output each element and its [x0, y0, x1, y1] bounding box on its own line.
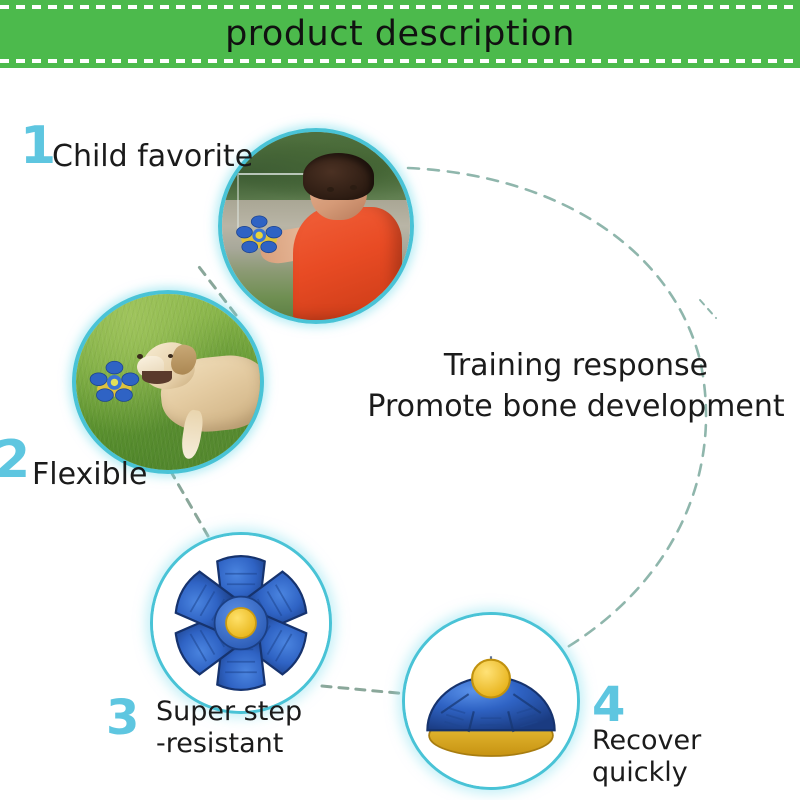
- scene-white-ball: [405, 615, 577, 787]
- child-hair: [303, 153, 374, 200]
- center-benefit-text: Training response Promote bone developme…: [352, 345, 800, 428]
- banner-dashed-line-top: [0, 5, 800, 9]
- child-red-shirt: [293, 207, 402, 324]
- disc-in-hand-icon: [231, 209, 287, 262]
- feature-label-1: Child favorite: [52, 139, 253, 174]
- disc-on-grass-icon: [85, 356, 144, 409]
- feature-number-3: 3: [106, 694, 139, 742]
- arc-accent-stub: [700, 300, 716, 318]
- header-banner: product description: [0, 0, 800, 68]
- connector-3-to-4: [322, 686, 408, 694]
- page-title: product description: [225, 14, 575, 54]
- feature-number-2: 2: [0, 434, 30, 486]
- child-eye-right: [350, 185, 357, 190]
- scene-white-flat: [153, 535, 329, 711]
- photo-flat-disc: [150, 532, 332, 714]
- child-eye-left: [327, 187, 334, 192]
- banner-dashed-line-bottom: [0, 59, 800, 63]
- product-description-infographic: product description: [0, 0, 800, 800]
- photo-dome-ball: [402, 612, 580, 790]
- dog-eye: [168, 354, 173, 358]
- feature-number-1: 1: [20, 120, 56, 172]
- feature-label-4: Recover quickly: [592, 725, 800, 789]
- feature-label-3: Super step -resistant: [156, 696, 302, 760]
- dog-mouth: [142, 371, 171, 383]
- scene-grass: [76, 294, 260, 470]
- flat-disc-icon: [153, 535, 329, 711]
- feature-number-4: 4: [592, 681, 625, 729]
- photo-dog-with-disc: [72, 290, 264, 474]
- dome-ball-icon: [405, 615, 577, 787]
- feature-label-2: Flexible: [32, 457, 147, 492]
- connector-2-to-3: [170, 470, 208, 536]
